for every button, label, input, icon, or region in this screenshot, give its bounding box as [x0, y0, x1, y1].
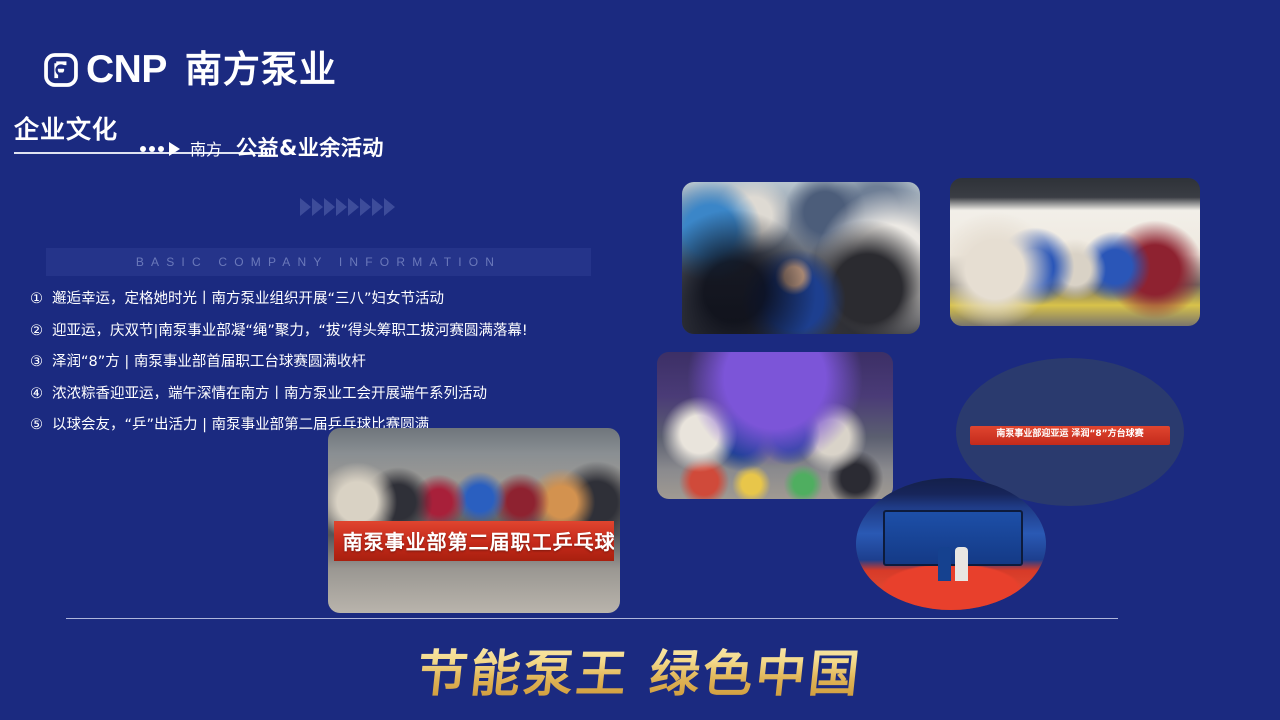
logo-latin-text: CNP	[86, 50, 167, 89]
logo-chinese-text: 南方泵业	[185, 51, 337, 88]
subheading-main-text: 公益&业余活动	[236, 132, 384, 162]
subheading-small-text: 南方	[190, 136, 222, 160]
billiard-banner: 南泵事业部迎亚运 泽润“8”方台球赛	[970, 426, 1171, 445]
billiard-banner-text: 南泵事业部迎亚运 泽润“8”方台球赛	[970, 426, 1171, 443]
ping-pong-banner-text: 南泵事业部第二届职工乒乓球赛	[343, 526, 615, 555]
slide-root: CNP 南方泵业 企业文化 南方 公益&业余活动 BASIC COMPANY I…	[0, 0, 1280, 720]
ping-pong-banner: 南泵事业部第二届职工乒乓球赛	[334, 521, 614, 562]
award-ceremony-stage-photo	[856, 478, 1046, 610]
ping-pong-group-photo: 南泵事业部第二届职工乒乓球赛	[328, 428, 620, 613]
dots-arrow-icon	[140, 142, 180, 156]
cnp-monogram-icon	[44, 53, 78, 87]
brand-logo: CNP 南方泵业	[44, 50, 337, 89]
tug-of-war-crowd-photo	[682, 182, 920, 334]
list-item-number: ④	[30, 385, 43, 405]
basic-band-label: BASIC COMPANY INFORMATION	[136, 255, 501, 269]
basic-company-information-band: BASIC COMPANY INFORMATION	[46, 248, 591, 276]
footer-divider	[66, 618, 1118, 619]
indoor-celebration-balloons-photo	[657, 352, 893, 499]
list-item-label: 浓浓粽香迎亚运，端午深情在南方丨南方泵业工会开展端午系列活动	[52, 385, 487, 405]
list-item: ③ 泽润“8”方 | 南泵事业部首届职工台球赛圆满收杆	[30, 353, 650, 373]
canteen-cooking-event-photo	[950, 178, 1200, 326]
list-item-number: ②	[30, 322, 43, 342]
footer-slogan: 节能泵王 绿色中国	[0, 634, 1280, 706]
section-subheading: 南方 公益&业余活动	[140, 132, 384, 162]
list-item: ② 迎亚运，庆双节|南泵事业部凝“绳”聚力，“拔”得头筹职工拔河赛圆满落幕!	[30, 322, 650, 342]
activity-list: ① 邂逅幸运，定格她时光丨南方泵业组织开展“三八”妇女节活动 ② 迎亚运，庆双节…	[30, 290, 650, 448]
list-item-label: 迎亚运，庆双节|南泵事业部凝“绳”聚力，“拔”得头筹职工拔河赛圆满落幕!	[52, 322, 528, 342]
stage-screen	[883, 510, 1024, 567]
award-person-left	[938, 547, 951, 581]
list-item: ④ 浓浓粽香迎亚运，端午深情在南方丨南方泵业工会开展端午系列活动	[30, 385, 650, 405]
list-item-number: ①	[30, 290, 43, 310]
list-item: ① 邂逅幸运，定格她时光丨南方泵业组织开展“三八”妇女节活动	[30, 290, 650, 310]
chevron-row-icon	[300, 198, 395, 216]
award-person-right	[955, 547, 968, 581]
list-item-label: 邂逅幸运，定格她时光丨南方泵业组织开展“三八”妇女节活动	[52, 290, 444, 310]
list-item-label: 泽润“8”方 | 南泵事业部首届职工台球赛圆满收杆	[52, 353, 366, 373]
list-item-number: ③	[30, 353, 43, 373]
list-item-number: ⑤	[30, 416, 43, 436]
